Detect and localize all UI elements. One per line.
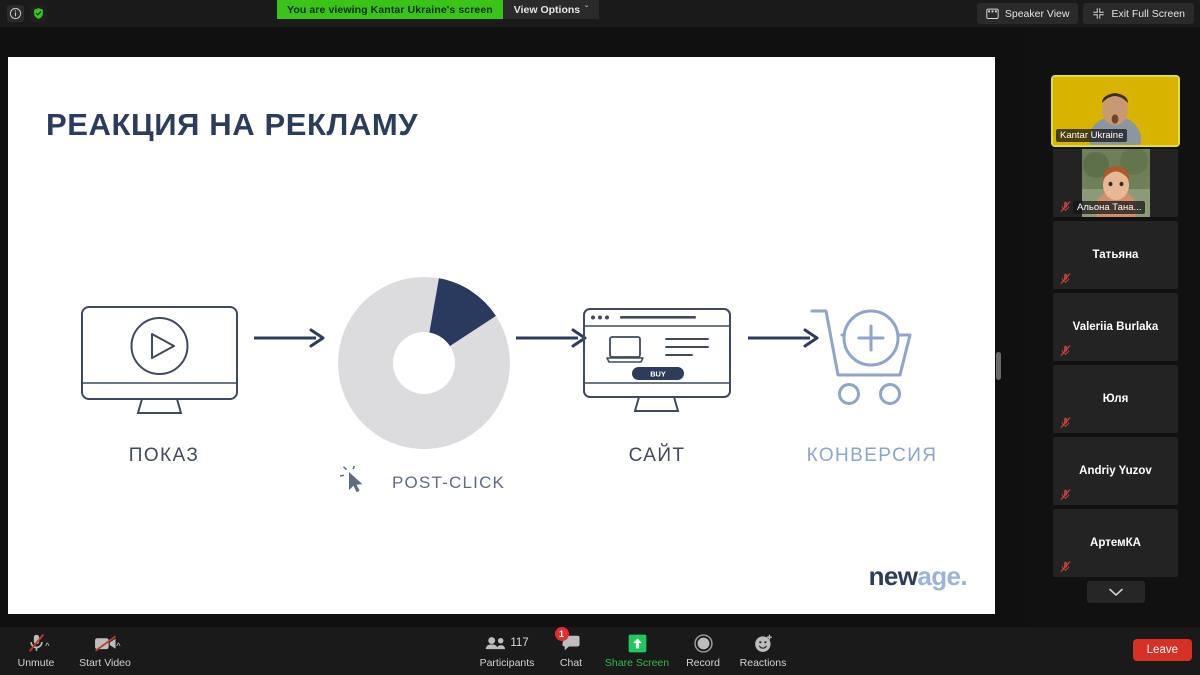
start-video-button[interactable]: ^ Start Video [73, 632, 137, 669]
share-screen-button[interactable]: Share Screen [605, 632, 669, 669]
chat-label: Chat [560, 657, 582, 669]
participants-filmstrip[interactable]: Kantar Ukraine Альона Тана... Татьяна [1031, 27, 1200, 627]
click-cursor-icon [340, 466, 370, 496]
monitor-play-icon [80, 305, 248, 415]
record-circle-icon [694, 634, 713, 653]
participant-name: Татьяна [1087, 249, 1145, 261]
shared-screen-stage: РЕАКЦИЯ НА РЕКЛАМУ ПОКАЗ [0, 27, 1030, 627]
leave-button[interactable]: Leave [1133, 639, 1192, 661]
shopping-cart-plus-icon [808, 305, 934, 417]
shield-check-icon[interactable] [30, 5, 47, 22]
top-bar: You are viewing Kantar Ukraine's screen … [0, 0, 1200, 27]
exit-full-screen-icon [1092, 7, 1105, 20]
arrow-right-icon-2 [516, 327, 588, 349]
smiley-reactions-icon [754, 634, 773, 653]
zoom-meeting-window: You are viewing Kantar Ukraine's screen … [0, 0, 1200, 675]
microphone-muted-icon [1059, 488, 1072, 501]
share-screen-up-arrow-icon [628, 634, 647, 653]
microphone-muted-icon [1059, 200, 1072, 213]
record-button[interactable]: Record [671, 632, 735, 669]
microphone-muted-icon [1059, 416, 1072, 429]
participant-tile-andriy-yuzov[interactable]: Andriy Yuzov [1053, 437, 1178, 505]
reactions-button[interactable]: Reactions [731, 632, 795, 669]
participants-label: Participants [480, 657, 535, 669]
video-options-chevron-icon[interactable]: ^ [116, 641, 120, 651]
panel-resize-handle[interactable] [996, 352, 1001, 380]
participant-tile-alona[interactable]: Альона Тана... [1053, 149, 1178, 217]
share-screen-label: Share Screen [605, 657, 669, 669]
top-bar-right-controls: Speaker View Exit Full Screen [977, 3, 1194, 24]
arrow-right-icon-1 [254, 327, 326, 349]
top-bar-left-icons [0, 5, 47, 22]
exit-full-screen-label: Exit Full Screen [1111, 8, 1185, 20]
participant-tile-valeriia-burlaka[interactable]: Valeriia Burlaka [1053, 293, 1178, 361]
logo-part-new: new [869, 561, 918, 591]
info-icon[interactable] [7, 5, 24, 22]
exit-full-screen-button[interactable]: Exit Full Screen [1083, 3, 1194, 24]
microphone-muted-icon [1059, 560, 1072, 573]
participants-icon [485, 636, 506, 650]
step-label-pokaz: ПОКАЗ [80, 445, 248, 467]
meeting-toolbar: ^ Unmute ^ Start Video [0, 627, 1200, 675]
speaker-view-label: Speaker View [1005, 8, 1070, 20]
speaker-view-icon [986, 8, 999, 20]
funnel-diagram: ПОКАЗ POST-CLICK [8, 217, 995, 517]
view-options-label: View Options [514, 4, 580, 16]
post-click-donut-chart [338, 277, 510, 449]
screen-share-notice: You are viewing Kantar Ukraine's screen [277, 0, 503, 19]
screen-share-notice-group: You are viewing Kantar Ukraine's screen … [277, 0, 599, 19]
browser-window-buy-icon: BUY [582, 307, 732, 415]
participant-name: Альона Тана... [1073, 201, 1145, 214]
participant-name: АртемКА [1084, 537, 1147, 549]
presentation-slide: РЕАКЦИЯ НА РЕКЛАМУ ПОКАЗ [8, 57, 995, 614]
record-label: Record [686, 657, 720, 669]
participant-name: Юля [1097, 393, 1135, 405]
reactions-label: Reactions [740, 657, 787, 669]
camera-off-icon [94, 635, 117, 652]
logo-part-age: age. [917, 561, 967, 591]
participant-tile-kantar-ukraine[interactable]: Kantar Ukraine [1053, 77, 1178, 145]
participant-name: Valeriia Burlaka [1067, 321, 1165, 333]
unmute-label: Unmute [18, 657, 55, 669]
participant-name: Kantar Ukraine [1056, 129, 1127, 142]
speaker-view-button[interactable]: Speaker View [977, 3, 1079, 24]
start-video-label: Start Video [79, 657, 131, 669]
chevron-down-icon: ˇ [585, 6, 588, 14]
step-label-site: САЙТ [582, 445, 732, 467]
microphone-muted-icon [27, 633, 46, 653]
post-click-label: POST-CLICK [392, 473, 505, 493]
participant-tile-artemka[interactable]: АртемКА [1053, 509, 1178, 577]
microphone-muted-icon [1059, 272, 1072, 285]
participant-tile-yulya[interactable]: Юля [1053, 365, 1178, 433]
participants-count: 117 [510, 637, 528, 649]
view-options-button[interactable]: View Options ˇ [503, 0, 599, 19]
chat-button[interactable]: 1 Chat [539, 632, 603, 669]
chevron-down-icon [1109, 588, 1123, 597]
buy-button-label: BUY [650, 370, 666, 379]
step-label-conversion: КОНВЕРСИЯ [798, 445, 946, 467]
microphone-muted-icon [1059, 344, 1072, 357]
newage-logo: newage. [869, 561, 967, 592]
participant-tile-tatyana[interactable]: Татьяна [1053, 221, 1178, 289]
slide-title: РЕАКЦИЯ НА РЕКЛАМУ [46, 107, 418, 143]
audio-options-chevron-icon[interactable]: ^ [45, 641, 49, 651]
unmute-button[interactable]: ^ Unmute [4, 632, 68, 669]
participant-name: Andriy Yuzov [1073, 465, 1158, 477]
filmstrip-scroll-down-button[interactable] [1087, 581, 1145, 603]
participants-button[interactable]: 117 Participants [475, 632, 539, 669]
chat-unread-badge: 1 [555, 627, 569, 641]
